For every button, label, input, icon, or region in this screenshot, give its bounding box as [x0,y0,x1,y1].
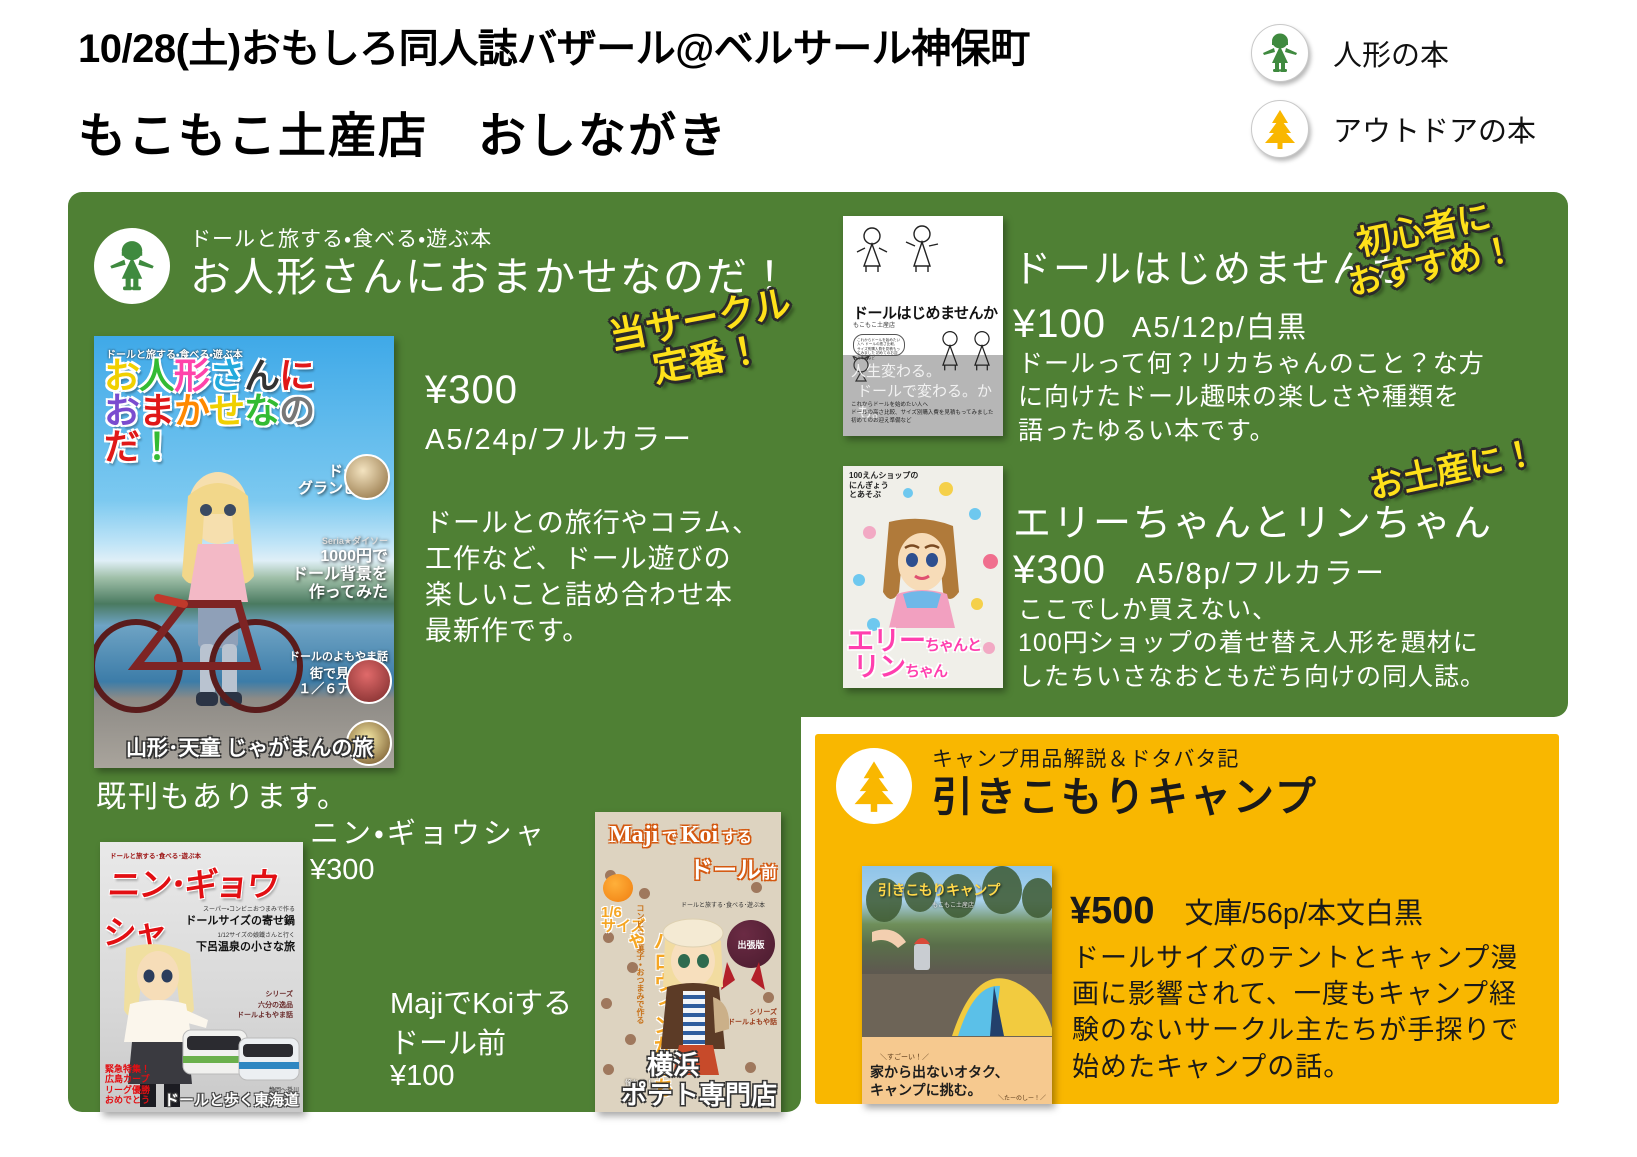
legend-label-doll: 人形の本 [1333,32,1449,74]
backlist-name-ningyosha: ニン・ギョウシャ [310,810,547,852]
book-spec: A5/12p/白黒 [1132,304,1308,346]
featured-price: ¥300 [425,368,518,413]
camp-price-row: ¥500 文庫/56p/本文白黒 [1070,890,1423,933]
book-description-erie-rin: ここでしか買えない、 100円ショップの着せ替え人形を題材に したちいさなおとも… [1018,594,1486,694]
book-price-row-hajimemasenka: ¥100 A5/12p/白黒 [1013,302,1308,347]
cover-pumpkin-icon [603,874,633,902]
book-price-row-erie-rin: ¥300 A5/8p/フルカラー [1013,548,1386,593]
featured-description: ドールとの旅行やコラム、 工作など、ドール遊びの 楽しいこと詰め合わせ本 最新作… [425,506,760,650]
book-description-hajimemasenka: ドールって何？リカちゃんのこと？な方 に向けたドール趣味の楽しさや種類を 語った… [1018,348,1485,448]
cover-title: 引きこもりキャンプ [878,880,1000,900]
cover-headline-2: 下呂温泉の小さな旅 [196,938,295,954]
cover-doodle-1 [855,226,889,274]
pine-tree-icon [836,748,912,824]
book-cover-omakase: ドールと旅する・食べる・遊ぶ本 お人形さんに おまかせなのだ！ ドールとグランピ… [94,336,394,768]
camp-spec: 文庫/56p/本文白黒 [1185,890,1424,932]
backlist-price-ningyosha: ¥300 [310,854,375,887]
cover-bottom-title: ドールと歩く東海道 [164,1089,299,1110]
cover-title-line-2: リンちゃん [853,645,947,684]
cover-speech-bubble: これからドールを始めたい人へ ドールの高さ比較、サイズ別購入費を見積もってみまし… [853,334,905,356]
poster-root: 10/28(土)おもしろ同人誌バザール@ベルサール神保町 もこもこ土産店 おしな… [0,0,1637,1157]
book-title-erie-rin: エリーちゃんとリンちゃん [1013,492,1493,547]
cover-header: 100えんショップの にんぎょう とあそぶ [849,471,918,500]
book-cover-hajimemasenka: ドールはじめませんか もこもこ土産店 これからドールを始めたい人へ ドールの高さ… [843,216,1003,436]
doll-section-title: お人形さんにおまかせなのだ！ [190,252,792,303]
backlist-name-maji-de-koi: MajiでKoiする ドール前 [390,984,572,1064]
cover-photo-doll [883,518,961,628]
cover-title-line-2: ドール前 [689,850,777,885]
cover-title: お人形さんに おまかせなのだ！ [104,358,364,464]
pine-tree-icon [1251,100,1309,158]
cover-series-note: シリーズ ドールよもや話 [728,1008,777,1028]
cover-series-note: シリーズ 六分の逸品 ドールよもやま話 [237,990,293,1022]
cover-feature-2-sub: Seria★ダイソー [322,534,388,547]
cover-bottom-caption: 山形･天童 じゃがまんの旅 [126,732,373,762]
cover-line-1: 家から出ないオタク、 [870,1062,1009,1082]
cover-tagline: ドールと旅する･食べる･遊ぶ本 [681,900,765,909]
cover-headline-1: ドールサイズの寄せ鍋 [185,912,295,928]
cover-photo-trains [181,1018,301,1088]
book-price: ¥100 [1013,302,1106,347]
camp-price: ¥500 [1070,890,1155,933]
doll-icon [94,228,170,304]
cover-bottom-line-2: ポテト専門店 [621,1075,777,1112]
legend-item-doll: 人形の本 [1229,20,1629,86]
legend-label-outdoor: アウトドアの本 [1333,108,1536,150]
legend: 人形の本 アウトドアの本 [1229,20,1629,172]
cover-photo-bicycle [94,546,318,726]
backlist-price-maji-de-koi: ¥100 [390,1060,455,1093]
event-heading: 10/28(土)おもしろ同人誌バザール@ベルサール神保町 [78,16,1030,74]
cover-line-2: キャンプに挑む。 [870,1080,982,1100]
doll-section-header: ドールと旅する・食べる・遊ぶ本 お人形さんにおまかせなのだ！ [94,228,792,304]
book-cover-ningyosha: ドールと旅する･食べる･遊ぶ本 ニン･ギョウシャ スーパー・コンビニおつまみで作… [100,842,303,1112]
doll-icon [1251,24,1309,82]
camp-description: ドールサイズのテントとキャンプ漫 画に影響されて、一度もキャンプ経 験のないサー… [1072,940,1519,1085]
cover-doodle-2 [905,224,939,274]
legend-item-outdoor: アウトドアの本 [1229,96,1629,162]
cover-circle-name: もこもこ土産店 [853,320,895,329]
outdoor-section-header: キャンプ用品解説＆ドタバタ記 引きこもりキャンプ [836,748,1318,824]
outdoor-section-title: 引きこもりキャンプ [932,772,1318,823]
cover-red-note: 緊急特集！ 広島カープ リーグ優勝 おめでとう [105,1064,150,1106]
cover-blurb: これからドールを始めたい人へ ドールの高さ比較、サイズ別購入費を見積もってみまし… [851,402,994,426]
book-cover-maji-de-koi: Maji で Koi する ドール前 1/6 サイズ コンビニお菓子・おつまみで… [595,812,781,1112]
featured-spec: A5/24p/フルカラー [425,416,693,458]
cover-footer-note: ＼たーのしー！／ [998,1093,1046,1102]
cover-sugoi-note: ＼すごーい！／ [880,1052,929,1062]
page-title: もこもこ土産店 おしながき [78,96,728,166]
book-cover-hikikomori-camp: 引きこもりキャンプ もこもこ土産店 ＼すごーい！／ 家から出ないオタク、 キャン… [862,866,1052,1104]
outdoor-section-subtitle: キャンプ用品解説＆ドタバタ記 [932,748,1318,772]
cover-title-line-1: Maji で Koi する [609,822,752,849]
book-spec: A5/8p/フルカラー [1136,550,1386,592]
cover-line-1: 人生変わる。 [851,360,941,381]
book-price: ¥300 [1013,548,1106,593]
book-cover-erie-rin: 100えんショップの にんぎょう とあそぶ エリーちゃんと リンちゃん [843,466,1003,688]
cover-doodle-4 [967,328,997,374]
cover-circle-name: もこもこ土産店 [932,900,974,909]
doll-section-subtitle: ドールと旅する・食べる・遊ぶ本 [190,228,792,252]
cover-feature-2: 1000円でドール背景を作ってみた [292,548,388,603]
